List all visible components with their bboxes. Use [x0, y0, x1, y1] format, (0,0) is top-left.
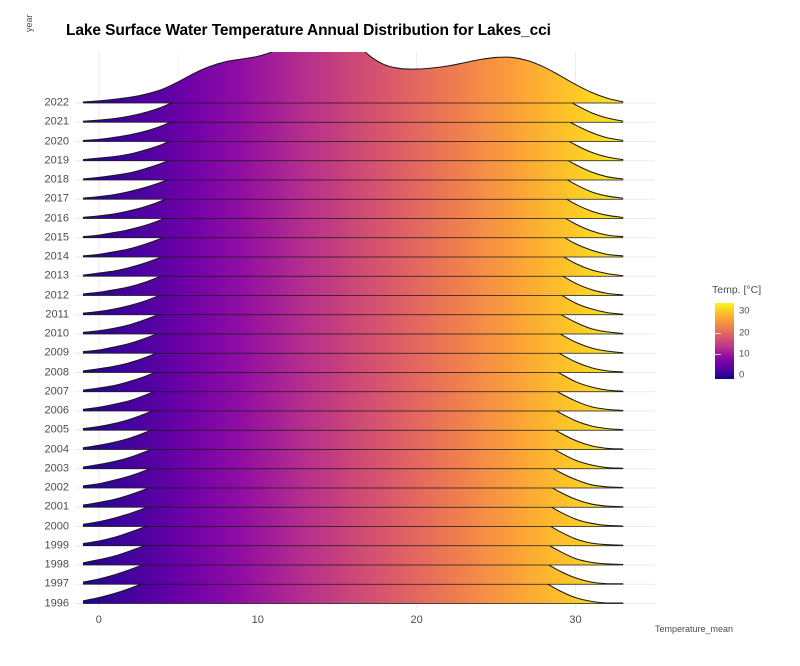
- ridgeline-svg: [75, 52, 655, 608]
- legend-tick-mark: [715, 354, 721, 355]
- y-tick-label-2018: 2018: [45, 175, 69, 186]
- ridge-area: [83, 52, 623, 103]
- x-tick-label-30: 30: [569, 614, 581, 626]
- x-tick-label-0: 0: [96, 614, 102, 626]
- legend-tick-mark: [715, 333, 721, 334]
- plot-panel: [75, 52, 655, 608]
- y-tick-label-2008: 2008: [45, 367, 69, 378]
- y-tick-label-1998: 1998: [45, 560, 69, 571]
- y-tick-label-2006: 2006: [45, 406, 69, 417]
- y-tick-label-2010: 2010: [45, 329, 69, 340]
- y-tick-label-2022: 2022: [45, 98, 69, 109]
- y-tick-label-2004: 2004: [45, 444, 69, 455]
- y-tick-label-2019: 2019: [45, 155, 69, 166]
- y-tick-label-2020: 2020: [45, 136, 69, 147]
- y-tick-label-1996: 1996: [45, 598, 69, 609]
- y-tick-label-2016: 2016: [45, 213, 69, 224]
- ridge-group: [83, 52, 623, 604]
- y-axis-tick-labels: 2022202120202019201820172016201520142013…: [0, 52, 69, 608]
- y-tick-label-2015: 2015: [45, 232, 69, 243]
- y-tick-label-2007: 2007: [45, 386, 69, 397]
- legend: Temp. [°C] 0102030: [706, 284, 796, 394]
- ridgeline-chart: Lake Surface Water Temperature Annual Di…: [0, 0, 800, 666]
- legend-tick-30: 30: [739, 306, 750, 317]
- y-tick-label-2003: 2003: [45, 463, 69, 474]
- y-tick-label-2002: 2002: [45, 483, 69, 494]
- x-axis-title: Temperature_mean: [655, 624, 733, 634]
- y-tick-label-2014: 2014: [45, 252, 69, 263]
- y-tick-label-2001: 2001: [45, 502, 69, 513]
- y-tick-label-1997: 1997: [45, 579, 69, 590]
- y-tick-label-2013: 2013: [45, 271, 69, 282]
- legend-tick-0: 0: [739, 369, 744, 380]
- x-tick-label-20: 20: [411, 614, 423, 626]
- y-axis-title: year: [24, 14, 34, 32]
- legend-tick-10: 10: [739, 348, 750, 359]
- legend-title: Temp. [°C]: [712, 284, 761, 296]
- legend-colorbar: [715, 303, 734, 379]
- page-title: Lake Surface Water Temperature Annual Di…: [66, 22, 551, 40]
- y-tick-label-2000: 2000: [45, 521, 69, 532]
- y-tick-label-2012: 2012: [45, 290, 69, 301]
- legend-tick-20: 20: [739, 327, 750, 338]
- y-tick-label-2005: 2005: [45, 425, 69, 436]
- y-tick-label-1999: 1999: [45, 540, 69, 551]
- y-tick-label-2011: 2011: [45, 309, 69, 320]
- y-tick-label-2009: 2009: [45, 348, 69, 359]
- y-tick-label-2017: 2017: [45, 194, 69, 205]
- y-tick-label-2021: 2021: [45, 117, 69, 128]
- x-tick-label-10: 10: [252, 614, 264, 626]
